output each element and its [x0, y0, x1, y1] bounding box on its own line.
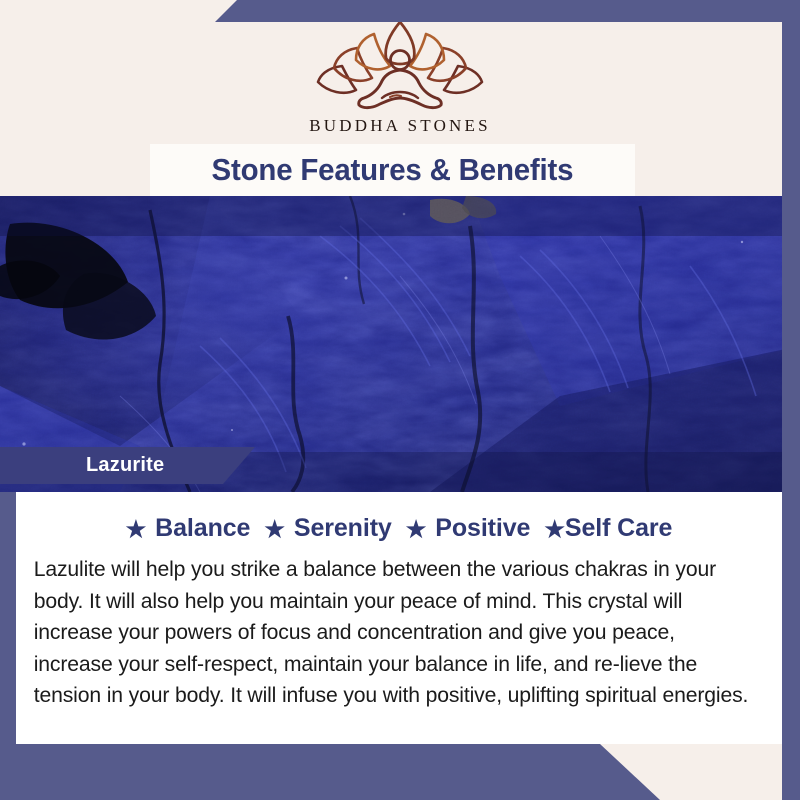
star-icon: ★	[126, 516, 147, 543]
star-icon: ★	[264, 516, 285, 543]
lotus-meditation-figure-icon	[316, 18, 484, 110]
stone-description: Lazulite will help you strike a balance …	[16, 543, 771, 712]
stone-name-label: Lazurite	[86, 454, 164, 477]
page-title: Stone Features & Benefits	[212, 152, 574, 188]
brand-logo	[0, 18, 800, 115]
keyword-serenity: Serenity	[294, 514, 392, 543]
brand-name: BUDDHA STONES	[0, 116, 800, 136]
stone-benefits-poster: BUDDHA STONES	[0, 0, 800, 800]
keyword-balance: Balance	[155, 514, 250, 543]
frame-right-accent	[782, 0, 800, 800]
frame-bottom-accent	[0, 744, 660, 800]
keyword-positive: Positive	[435, 514, 530, 543]
page-title-plate: Stone Features & Benefits	[150, 144, 635, 196]
frame-top-accent	[215, 0, 800, 22]
stone-name-banner: Lazurite	[0, 447, 255, 484]
keyword-list: ★Balance★Serenity★Positive★Self Care	[16, 492, 782, 543]
content-card: ★Balance★Serenity★Positive★Self Care Laz…	[16, 492, 782, 754]
star-icon: ★	[544, 516, 565, 543]
keyword-self-care: Self Care	[565, 514, 673, 543]
star-icon: ★	[406, 516, 427, 543]
